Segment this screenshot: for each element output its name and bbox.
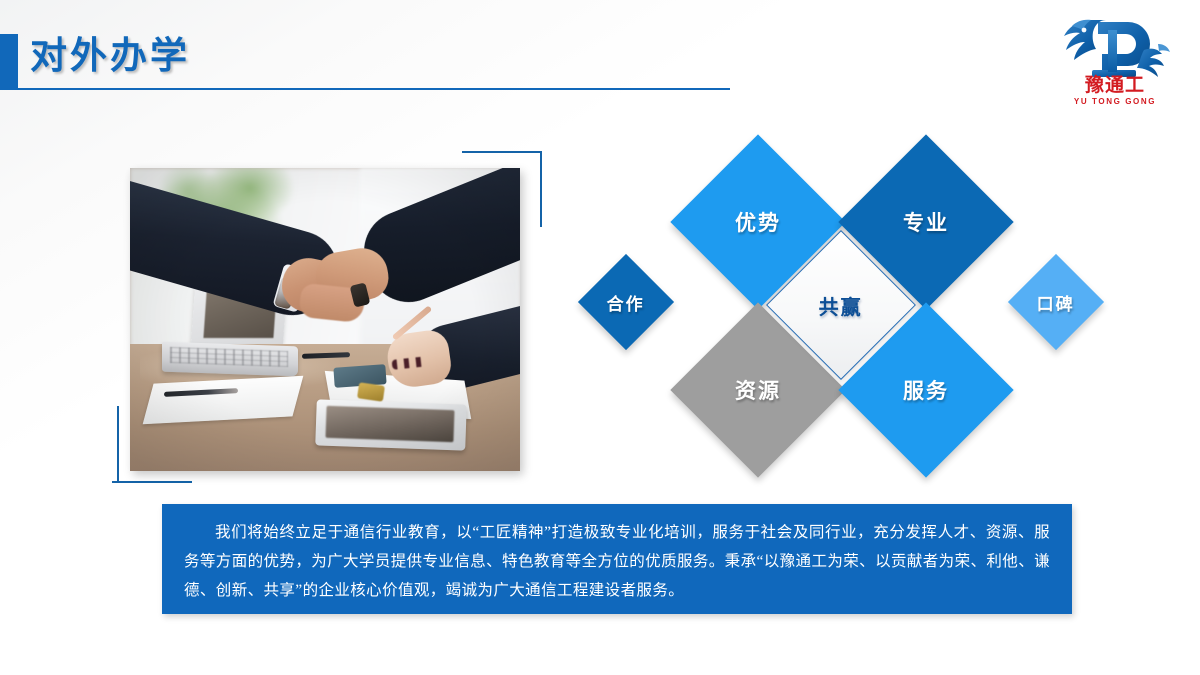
diamond-node-cooperation[interactable]: 合作 (578, 254, 674, 350)
logo-chinese-name: 豫通工 (1040, 76, 1190, 96)
diamond-label: 合作 (607, 290, 645, 315)
title-accent-bar (0, 34, 18, 90)
slide-root: 对外办学 (0, 0, 1200, 675)
diamond-node-reputation[interactable]: 口碑 (1008, 254, 1104, 350)
logo-pinyin: YU TONG GONG (1040, 97, 1190, 106)
dragon-logo-icon (1040, 14, 1190, 84)
title-underline (18, 88, 730, 90)
photo-bracket-bottom-left-vertical (117, 406, 119, 483)
diamond-label: 资源 (735, 375, 781, 405)
page-title: 对外办学 (30, 31, 190, 81)
description-panel: 我们将始终立足于通信行业教育，以“工匠精神”打造极致专业化培训，服务于社会及同行… (162, 504, 1072, 614)
diamond-label: 优势 (735, 207, 781, 237)
photo-bracket-top-right-vertical (540, 151, 542, 227)
diamond-center-label: 共赢 (819, 291, 863, 320)
company-logo: 豫通工 YU TONG GONG (1040, 14, 1190, 106)
handshake-photo (130, 168, 520, 471)
description-text: 我们将始终立足于通信行业教育，以“工匠精神”打造极致专业化培训，服务于社会及同行… (162, 504, 1072, 605)
photo-bracket-top-right-horizontal (462, 151, 542, 153)
diamond-diagram: 合作 优势 专业 资源 服务 口碑 共赢 (570, 140, 1130, 480)
photo-bracket-bottom-left-horizontal (112, 481, 192, 483)
diamond-label: 服务 (903, 375, 949, 405)
diamond-label: 口碑 (1037, 290, 1075, 315)
diamond-label: 专业 (903, 207, 949, 237)
photo-canvas (130, 168, 520, 471)
